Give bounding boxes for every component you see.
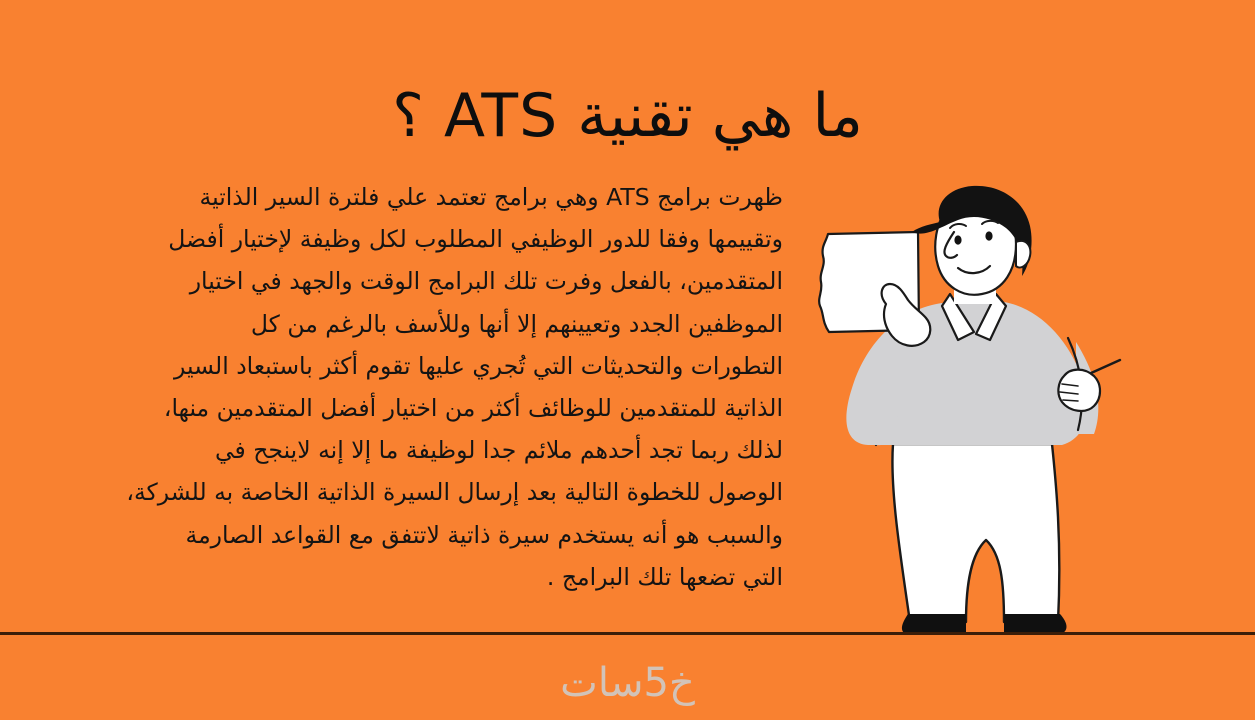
body-line: الذاتية للمتقدمين للوظائف أكثر من اختيار… bbox=[68, 387, 783, 429]
khamsat-logo: خ5سات bbox=[0, 660, 1255, 706]
man-holding-paper-illustration bbox=[790, 182, 1210, 637]
illustration-svg bbox=[790, 182, 1210, 637]
body-line: لذلك ربما تجد أحدهم ملائم جدا لوظيفة ما … bbox=[68, 429, 783, 471]
page-title: ما هي تقنية ATS ؟ bbox=[0, 84, 1255, 149]
ear bbox=[1016, 241, 1030, 268]
slide-canvas: ما هي تقنية ATS ؟ ظهرت برامج ATS وهي برا… bbox=[0, 0, 1255, 720]
body-line: الوصول للخطوة التالية بعد إرسال السيرة ا… bbox=[68, 471, 783, 513]
body-line: وتقييمها وفقا للدور الوظيفي المطلوب لكل … bbox=[68, 218, 783, 260]
footer-divider bbox=[0, 632, 1255, 635]
body-line: الموظفين الجدد وتعيينهم إلا أنها وللأسف … bbox=[68, 303, 783, 345]
eye-right bbox=[985, 231, 992, 240]
body-line: التي تضعها تلك البرامج . bbox=[68, 556, 783, 598]
fist-with-pen bbox=[1058, 370, 1100, 411]
body-line: ظهرت برامج ATS وهي برامج تعتمد علي فلترة… bbox=[68, 176, 783, 218]
body-paragraph: ظهرت برامج ATS وهي برامج تعتمد علي فلترة… bbox=[68, 176, 783, 598]
eye-left bbox=[954, 235, 961, 244]
body-line: والسبب هو أنه يستخدم سيرة ذاتية لاتتفق م… bbox=[68, 514, 783, 556]
body-line: التطورات والتحديثات التي تُجري عليها تقو… bbox=[68, 345, 783, 387]
body-line: المتقدمين، بالفعل وفرت تلك البرامج الوقت… bbox=[68, 260, 783, 302]
trousers bbox=[892, 444, 1059, 622]
